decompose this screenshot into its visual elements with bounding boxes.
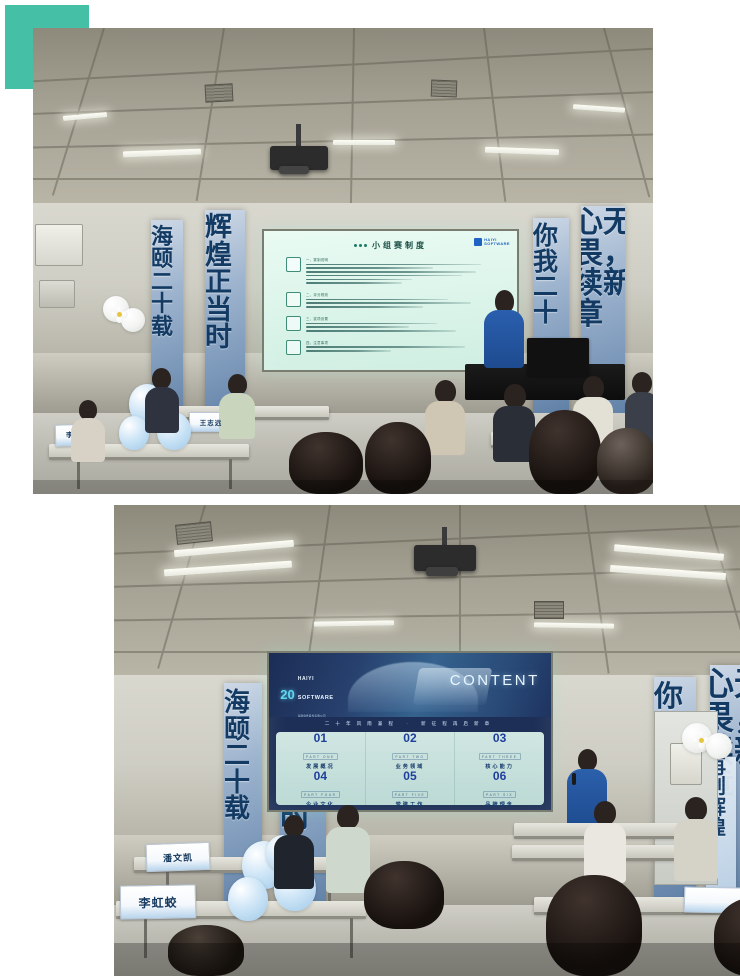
agenda-column: 01 PART ONE 发展概况 04 PART FOUR 企业文化 xyxy=(276,732,366,806)
name-card: 潘文凯 xyxy=(146,842,211,872)
slide-title: 小组赛制度 xyxy=(372,240,427,251)
name-card: 李虹蛟 xyxy=(120,884,197,919)
name-card-text: 潘文凯 xyxy=(163,850,193,864)
attendee xyxy=(71,400,105,460)
agenda-part: PART FOUR xyxy=(301,791,339,798)
agenda-number: 06 xyxy=(483,770,516,783)
logo-line-3: 海颐软件股份有限公司 xyxy=(298,715,326,717)
presenter xyxy=(479,290,531,378)
slide-section: 二、评分规则 xyxy=(286,292,509,310)
scene-two: 海颐二十载 辉煌正当时 你我二十 心无畏，续新章 再创辉煌 xyxy=(114,505,740,976)
section-heading: 二、评分规则 xyxy=(306,292,483,297)
agenda-number: 02 xyxy=(392,732,427,745)
banner-text: 海颐二十载 xyxy=(151,226,183,338)
agenda-column: 02 PART TWO 业务领域 05 PART FIVE 党建工作 xyxy=(366,732,456,806)
agenda-number: 01 xyxy=(303,732,338,745)
banner-text: 心无畏，续新章 xyxy=(581,208,625,330)
section-heading: 三、奖项设置 xyxy=(306,316,483,321)
agenda-part: PART SIX xyxy=(483,791,516,798)
name-card-text: 王志远 xyxy=(200,417,223,427)
ceiling-vent xyxy=(205,83,234,102)
banner-text: 辉煌正当时 xyxy=(205,214,245,352)
attendee xyxy=(145,368,179,430)
section-heading: 四、注意事项 xyxy=(306,340,483,345)
logo-mark-icon xyxy=(474,238,482,246)
slide-subtitle: 二十年风雨兼程 · 新征程再启新章 xyxy=(269,721,551,727)
agenda-part: PART ONE xyxy=(303,753,338,760)
ceiling-vent xyxy=(431,80,458,98)
agenda-number: 03 xyxy=(479,732,521,745)
logo-line-2: SOFTWARE xyxy=(484,241,510,246)
agenda-item: 03 PART THREE 核心能力 xyxy=(479,732,521,770)
microphone xyxy=(572,773,576,785)
slide-heading: CONTENT xyxy=(450,672,540,689)
attendee xyxy=(425,380,465,452)
slide-section: 四、注意事项 xyxy=(286,340,509,355)
computer-monitor xyxy=(527,338,589,376)
banner-text: 你我二十 xyxy=(533,224,569,326)
projector-lens xyxy=(426,567,458,576)
slide-header-band: 20 HAIYI SOFTWARE 海颐软件股份有限公司 CONTENT xyxy=(269,653,551,717)
attendee xyxy=(674,797,718,879)
attendee xyxy=(326,805,370,891)
wall-ac-unit xyxy=(35,224,83,266)
agenda-item: 02 PART TWO 业务领域 xyxy=(392,732,427,770)
ceiling xyxy=(33,28,653,203)
section-icon xyxy=(286,257,301,272)
wall-box xyxy=(39,280,75,308)
ceiling-tile-grid xyxy=(33,28,653,203)
agenda-part: PART THREE xyxy=(479,753,521,760)
name-card-text: 李虹蛟 xyxy=(138,893,177,911)
agenda-part: PART TWO xyxy=(392,753,427,760)
agenda-item: 01 PART ONE 发展概况 xyxy=(303,732,338,770)
attendee xyxy=(274,815,314,887)
agenda-panel: 01 PART ONE 发展概况 04 PART FOUR 企业文化 02 xyxy=(276,732,544,806)
photo-bottom-training-session: 海颐二十载 辉煌正当时 你我二十 心无畏，续新章 再创辉煌 xyxy=(114,505,740,976)
flower-decoration xyxy=(692,731,712,751)
dot-decoration-icon xyxy=(354,244,367,247)
attendee xyxy=(584,801,626,881)
section-icon xyxy=(286,340,301,355)
attendee xyxy=(219,374,255,436)
agenda-label: 品牌理念 xyxy=(483,801,516,808)
page-root: 海颐二十载 辉煌正当时 你我二十 心无畏，续新章 小组赛制度 xyxy=(0,0,740,976)
agenda-number: 04 xyxy=(301,770,339,783)
flower-decoration xyxy=(111,306,129,324)
slide-logo: HAIYI SOFTWARE xyxy=(474,238,510,247)
slide-logo: 20 HAIYI SOFTWARE 海颐软件股份有限公司 xyxy=(280,667,333,717)
agenda-column: 03 PART THREE 核心能力 06 PART SIX 品牌理念 xyxy=(455,732,544,806)
agenda-number: 05 xyxy=(392,770,429,783)
slide-section: 一、赛制说明 xyxy=(286,257,509,286)
agenda-part: PART FIVE xyxy=(392,791,429,798)
projector-lens xyxy=(279,166,309,174)
agenda-item: 06 PART SIX 品牌理念 xyxy=(483,770,516,808)
section-icon xyxy=(286,292,301,307)
ceiling-vent xyxy=(534,601,564,619)
ceiling xyxy=(114,505,740,675)
section-heading: 一、赛制说明 xyxy=(306,257,483,262)
slide-section: 三、奖项设置 xyxy=(286,316,509,334)
scene-one: 海颐二十载 辉煌正当时 你我二十 心无畏，续新章 小组赛制度 xyxy=(33,28,653,494)
balloon xyxy=(228,877,268,921)
section-icon xyxy=(286,316,301,331)
foreground-attendee-head xyxy=(364,861,444,929)
agenda-item: 04 PART FOUR 企业文化 xyxy=(301,770,339,808)
photo-top-training-session: 海颐二十载 辉煌正当时 你我二十 心无畏，续新章 小组赛制度 xyxy=(33,28,653,494)
logo-line-2: SOFTWARE xyxy=(298,695,334,701)
ceiling-vent xyxy=(175,521,213,545)
projection-screen-slide-two: 20 HAIYI SOFTWARE 海颐软件股份有限公司 CONTENT 二十年… xyxy=(267,651,553,812)
logo-text: HAIYI SOFTWARE xyxy=(484,238,510,247)
agenda-item: 05 PART FIVE 党建工作 xyxy=(392,770,429,808)
agenda-label: 党建工作 xyxy=(392,801,429,808)
banner-text: 海颐二十载 xyxy=(224,689,262,822)
anniversary-mark: 20 xyxy=(280,688,294,701)
logo-line-1: HAIYI xyxy=(298,676,314,682)
